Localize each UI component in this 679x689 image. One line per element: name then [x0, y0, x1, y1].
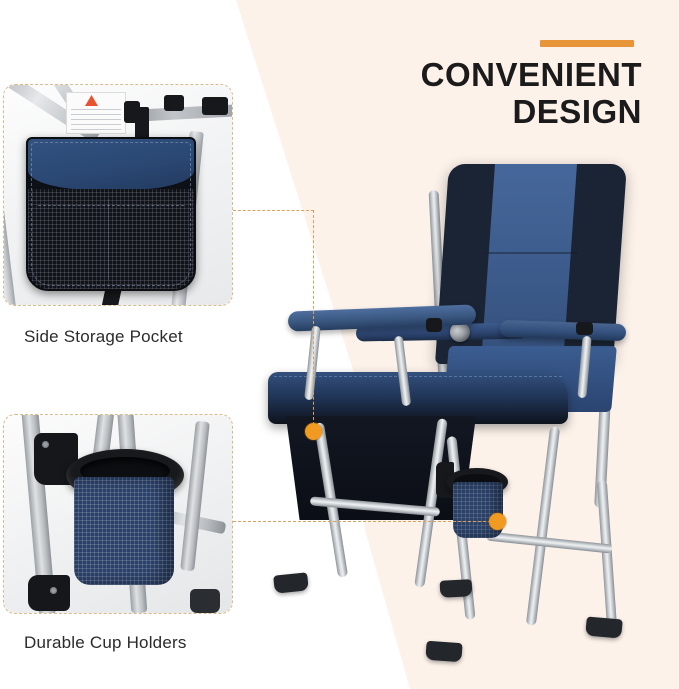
- side-storage-pocket: [26, 137, 196, 291]
- chair-leg-brace: [486, 531, 612, 553]
- infographic-canvas: Side Storage Pocket Durable Cup Holders: [0, 0, 679, 689]
- clamp-screw-icon: [42, 441, 49, 448]
- pocket-horizontal-seam: [38, 205, 184, 206]
- callout-dot-side-storage-pocket: [305, 423, 322, 440]
- page-title-line-1: CONVENIENT: [390, 56, 642, 93]
- warning-triangle-icon: [85, 95, 98, 106]
- chair-foot-front-right: [425, 641, 462, 662]
- side-storage-pocket-photo: [4, 85, 232, 305]
- seat-stitch-edge: [274, 376, 562, 377]
- leader-line-pocket-vertical: [313, 210, 314, 425]
- backrest-seam: [485, 252, 578, 254]
- leader-line-cup-horizontal: [233, 521, 496, 522]
- cup-chair-foot: [190, 589, 220, 613]
- pocket-warning-label: [66, 92, 126, 134]
- armrest-joint-block: [426, 318, 442, 332]
- armrest-joint-block-right: [576, 322, 593, 335]
- chair-leg-far-right: [597, 480, 617, 630]
- cup-holder-photo: [4, 415, 232, 613]
- page-title-line-2: DESIGN: [390, 93, 642, 130]
- pocket-mesh-panel: [28, 189, 194, 290]
- pocket-hinge-c: [164, 95, 184, 111]
- caption-durable-cup-holders: Durable Cup Holders: [24, 633, 187, 653]
- feature-panel-side-storage-pocket: [3, 84, 233, 306]
- cup-lower-joint: [28, 575, 70, 611]
- cup-holder-mesh-basket: [74, 477, 174, 585]
- pocket-top-flap: [28, 139, 194, 192]
- lower-joint-screw-icon: [50, 587, 57, 594]
- callout-dot-cup-holder: [489, 513, 506, 530]
- pocket-hinge-d: [202, 97, 228, 115]
- chair-foot-rear-right: [585, 616, 623, 638]
- feature-panel-durable-cup-holders: [3, 414, 233, 614]
- caption-side-storage-pocket: Side Storage Pocket: [24, 327, 183, 347]
- pocket-vertical-seam: [108, 199, 109, 280]
- chair-foot-mid: [440, 579, 473, 598]
- chair-foot-front-left: [273, 572, 309, 593]
- chair-leg-rear-right: [526, 426, 560, 626]
- leader-line-pocket-horizontal: [233, 210, 314, 211]
- page-title: CONVENIENT DESIGN: [390, 56, 642, 130]
- orange-accent-bar: [540, 40, 634, 47]
